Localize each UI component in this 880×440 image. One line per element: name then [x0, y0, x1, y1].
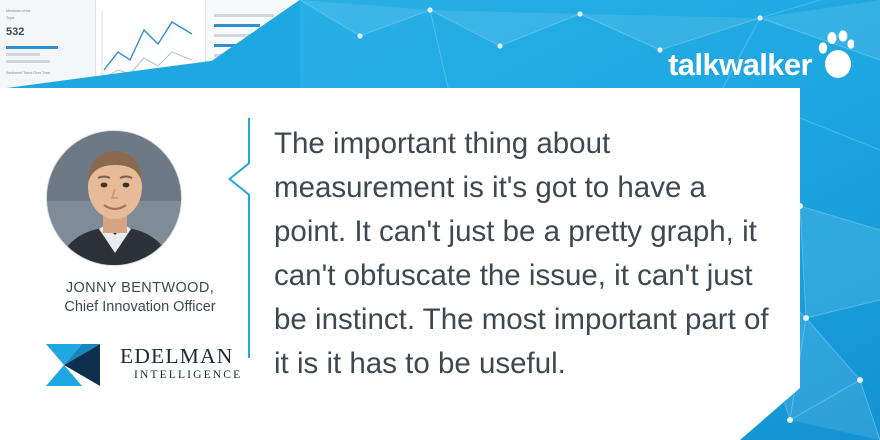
- quote-card: Mentions of the Topic 532 Sentiment Tren…: [0, 0, 880, 440]
- edelman-logo: EDELMAN INTELLIGENCE: [42, 338, 238, 396]
- quote-pointer-inner-icon: [231, 163, 251, 195]
- edelman-arrow-icon: [42, 338, 116, 392]
- avatar-portrait-graphic: [47, 131, 182, 266]
- person-name: JONNY BENTWOOD,: [40, 280, 240, 296]
- screenshot-panel-left: Mentions of the Topic 532 Sentiment Tren…: [0, 0, 96, 88]
- edelman-subword: INTELLIGENCE: [134, 368, 242, 381]
- edelman-wordmark: EDELMAN: [120, 344, 234, 369]
- talkwalker-footprint-icon: [818, 30, 854, 80]
- screenshot-metric-value: 532: [6, 26, 24, 38]
- quote-accent-rule: [248, 118, 250, 358]
- avatar: [46, 130, 182, 266]
- talkwalker-wordmark: talkwalker: [668, 49, 812, 80]
- attribution-block: JONNY BENTWOOD, Chief Innovation Officer: [40, 280, 240, 315]
- quote-text: The important thing about measurement is…: [274, 122, 774, 386]
- person-title: Chief Innovation Officer: [40, 299, 240, 315]
- dashboard-screenshot: Mentions of the Topic 532 Sentiment Tren…: [0, 0, 300, 88]
- screenshot-caption-2: Sentiment Trend Over Time: [6, 70, 50, 76]
- screenshot-caption-1: Topic: [6, 15, 14, 21]
- talkwalker-logo: talkwalker: [668, 24, 854, 80]
- screenshot-caption-0: Mentions of the: [6, 8, 31, 14]
